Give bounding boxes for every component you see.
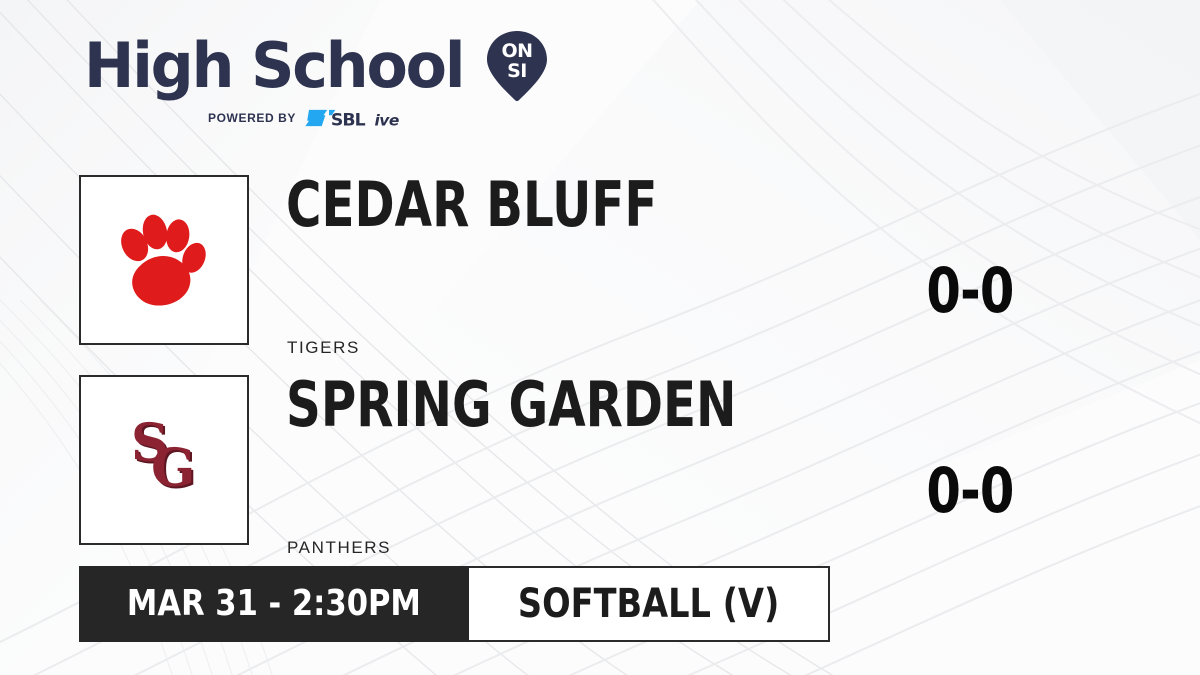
onsi-pin-icon: ON SI xyxy=(485,30,549,102)
svg-text:ON: ON xyxy=(502,40,533,62)
brand-title-row: High School ON SI xyxy=(84,28,504,104)
svg-text:SI: SI xyxy=(507,60,527,82)
team-2-record: 0-0 xyxy=(898,460,1042,522)
powered-by-label: POWERED BY xyxy=(208,111,296,125)
brand-logo: High School ON SI POWERED BY SBL xyxy=(84,28,504,128)
svg-text:SBL: SBL xyxy=(331,110,366,128)
team-2-mascot: PANTHERS xyxy=(287,538,391,558)
game-scorecard: High School ON SI POWERED BY SBL xyxy=(0,0,1200,675)
svg-text:ive: ive xyxy=(374,111,398,128)
team-1-mascot: TIGERS xyxy=(287,338,360,358)
brand-title: High School xyxy=(84,35,463,97)
svg-text:G: G xyxy=(151,438,195,499)
game-info-bar: MAR 31 - 2:30PM SOFTBALL (V) xyxy=(79,566,830,642)
game-datetime: MAR 31 - 2:30PM xyxy=(79,566,469,642)
team-2-name: SPRING GARDEN xyxy=(286,374,737,436)
game-sport: SOFTBALL (V) xyxy=(469,566,830,642)
game-sport-text: SOFTBALL (V) xyxy=(518,584,779,624)
powered-by-row: POWERED BY SBL ive xyxy=(84,108,504,128)
team-1-logo xyxy=(79,175,249,345)
team-1-name: CEDAR BLUFF xyxy=(286,174,657,236)
team-1-record: 0-0 xyxy=(898,260,1042,322)
team-2-logo: S G S G xyxy=(79,375,249,545)
game-datetime-text: MAR 31 - 2:30PM xyxy=(127,586,421,622)
sblive-logo-icon: SBL ive xyxy=(303,108,415,128)
